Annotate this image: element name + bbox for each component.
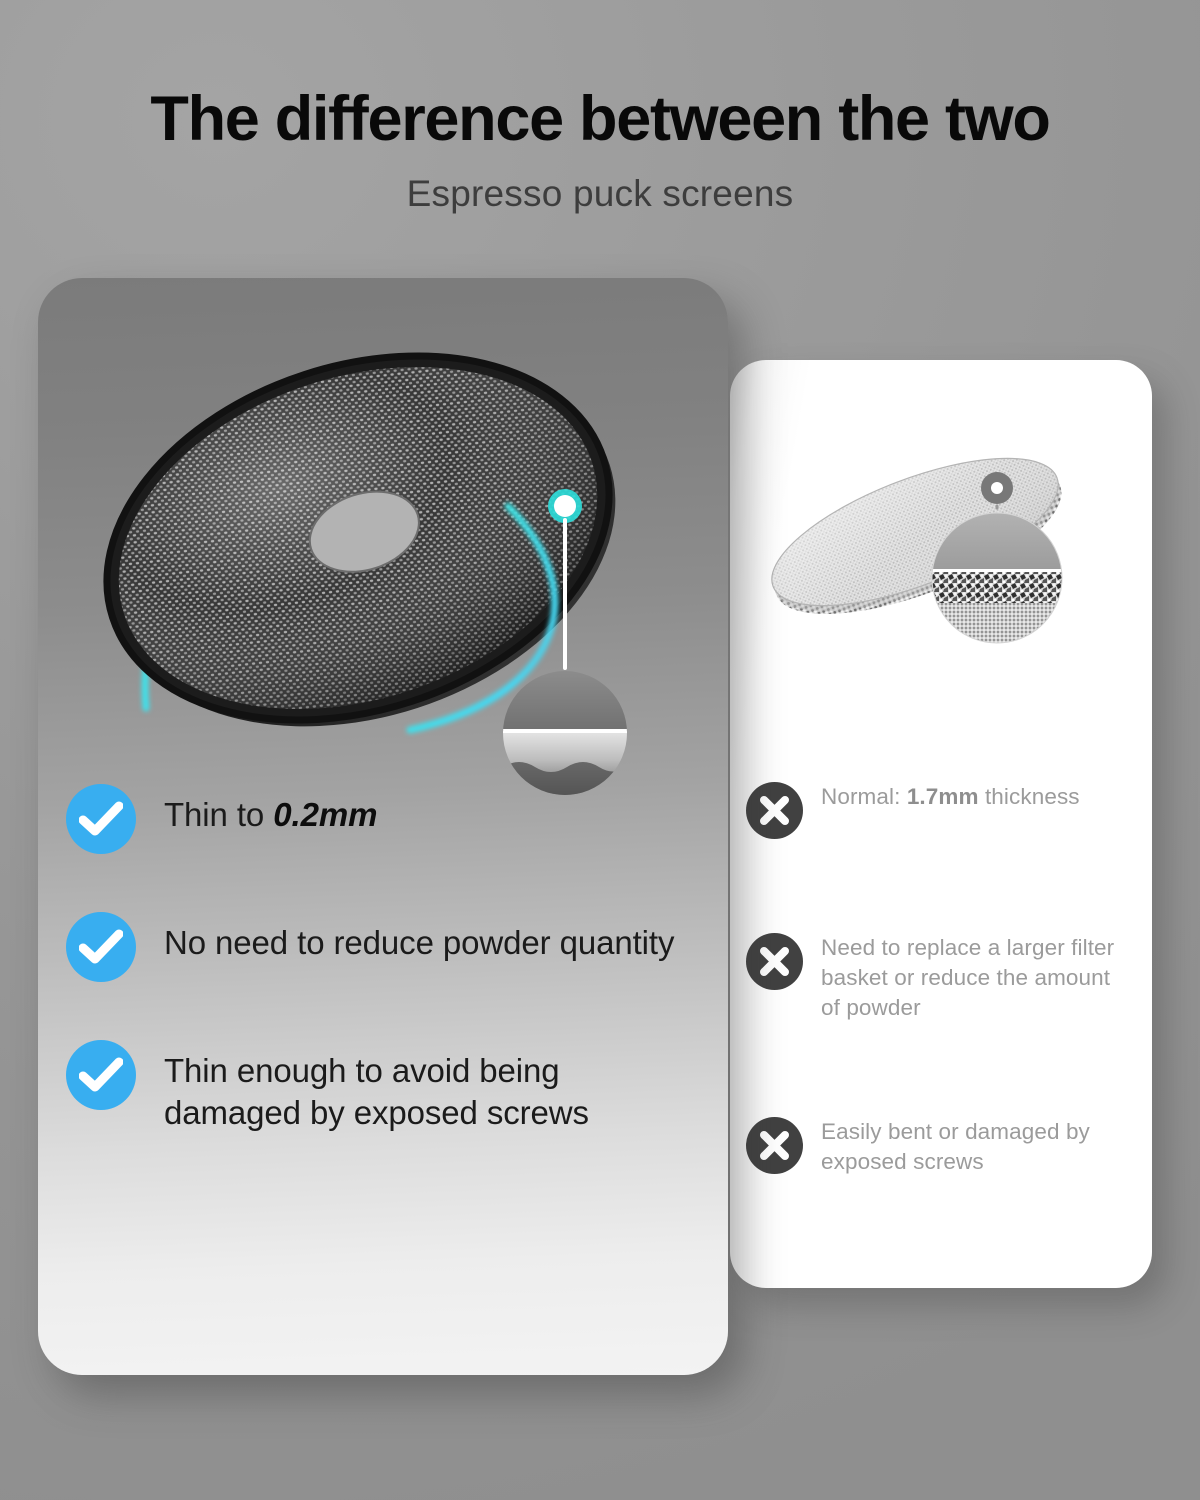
cross-icon <box>746 933 803 990</box>
header: The difference between the two Espresso … <box>0 0 1200 212</box>
cross-icon <box>746 782 803 839</box>
check-icon <box>66 912 136 982</box>
list-item: Thin to 0.2mm <box>66 788 706 854</box>
list-item: Easily bent or damaged by exposed screws <box>746 1115 1146 1177</box>
list-item-label: Need to replace a larger filter basket o… <box>821 931 1126 1023</box>
label-prefix: Thin to <box>164 796 273 833</box>
check-icon <box>66 784 136 854</box>
page-subtitle: Espresso puck screens <box>0 151 1200 212</box>
list-item-label: No need to reduce powder quantity <box>164 916 674 964</box>
list-item-label: Normal: 1.7mm thickness <box>821 780 1080 812</box>
list-item: Thin enough to avoid being damaged by ex… <box>66 1044 706 1133</box>
benefit-list: Thin to 0.2mm No need to reduce powder q… <box>66 788 706 1133</box>
edge-marker-dot <box>981 472 1013 504</box>
edge-highlight-dot <box>548 489 582 523</box>
label-suffix: thickness <box>979 784 1080 809</box>
check-icon <box>66 1040 136 1110</box>
list-item: No need to reduce powder quantity <box>66 916 706 982</box>
label-highlight: 1.7mm <box>907 784 979 809</box>
thick-woven-mesh-puck-screen-image <box>730 360 1152 760</box>
comparison-card-thin: Thin to 0.2mm No need to reduce powder q… <box>38 278 728 1375</box>
cross-icon <box>746 1117 803 1174</box>
list-item: Normal: 1.7mm thickness <box>746 780 1146 839</box>
label-prefix: Normal: <box>821 784 907 809</box>
list-item-label: Thin to 0.2mm <box>164 788 377 836</box>
page-title: The difference between the two <box>0 0 1200 151</box>
thin-perforated-puck-screen-image <box>38 278 728 798</box>
comparison-card-normal: Normal: 1.7mm thickness Need to replace … <box>730 360 1152 1288</box>
list-item: Need to replace a larger filter basket o… <box>746 931 1146 1023</box>
list-item-label: Easily bent or damaged by exposed screws <box>821 1115 1126 1177</box>
label-highlight: 0.2mm <box>273 796 377 833</box>
list-item-label: Thin enough to avoid being damaged by ex… <box>164 1044 694 1133</box>
drawback-list: Normal: 1.7mm thickness Need to replace … <box>746 780 1146 1177</box>
